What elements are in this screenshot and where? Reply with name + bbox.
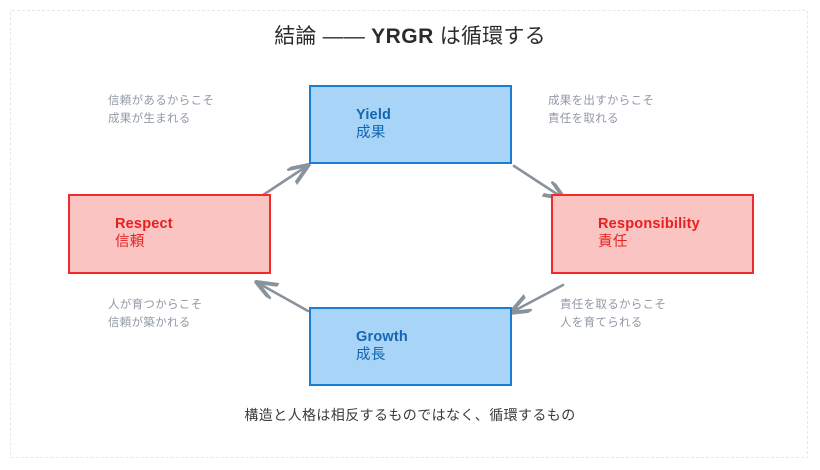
diagram-caption: 構造と人格は相反するものではなく、循環するもの [0, 405, 820, 425]
node-respect[interactable]: Respect 信頼 [68, 194, 271, 274]
node-respect-subtitle: 信頼 [115, 233, 269, 253]
arrow-growth-to-respect [258, 283, 308, 311]
arrow-responsibility-to-growth [512, 285, 563, 312]
note-responsibility-to-growth-line1: 責任を取るからこそ [560, 297, 666, 315]
note-yield-to-responsibility-line2: 責任を取れる [548, 111, 654, 129]
node-responsibility-subtitle: 責任 [598, 233, 752, 253]
note-yield-to-responsibility: 成果を出すからこそ 責任を取れる [548, 93, 654, 129]
node-growth-subtitle: 成長 [356, 346, 510, 366]
node-responsibility-title: Responsibility [598, 215, 752, 233]
node-yield[interactable]: Yield 成果 [309, 85, 512, 164]
note-growth-to-respect: 人が育つからこそ 信頼が築かれる [108, 297, 202, 333]
note-responsibility-to-growth-line2: 人を育てられる [560, 315, 666, 333]
node-responsibility[interactable]: Responsibility 責任 [551, 194, 754, 274]
node-growth[interactable]: Growth 成長 [309, 307, 512, 386]
node-growth-title: Growth [356, 328, 510, 346]
arrow-respect-to-yield [260, 166, 307, 197]
note-respect-to-yield-line1: 信頼があるからこそ [108, 93, 214, 111]
node-yield-title: Yield [356, 106, 510, 124]
note-growth-to-respect-line1: 人が育つからこそ [108, 297, 202, 315]
note-respect-to-yield-line2: 成果が生まれる [108, 111, 214, 129]
node-yield-subtitle: 成果 [356, 124, 510, 144]
node-respect-title: Respect [115, 215, 269, 233]
note-growth-to-respect-line2: 信頼が築かれる [108, 315, 202, 333]
note-yield-to-responsibility-line1: 成果を出すからこそ [548, 93, 654, 111]
note-respect-to-yield: 信頼があるからこそ 成果が生まれる [108, 93, 214, 129]
diagram-canvas: 結論 —— YRGR は循環する Yield 成果 Responsibility… [0, 0, 820, 470]
note-responsibility-to-growth: 責任を取るからこそ 人を育てられる [560, 297, 666, 333]
